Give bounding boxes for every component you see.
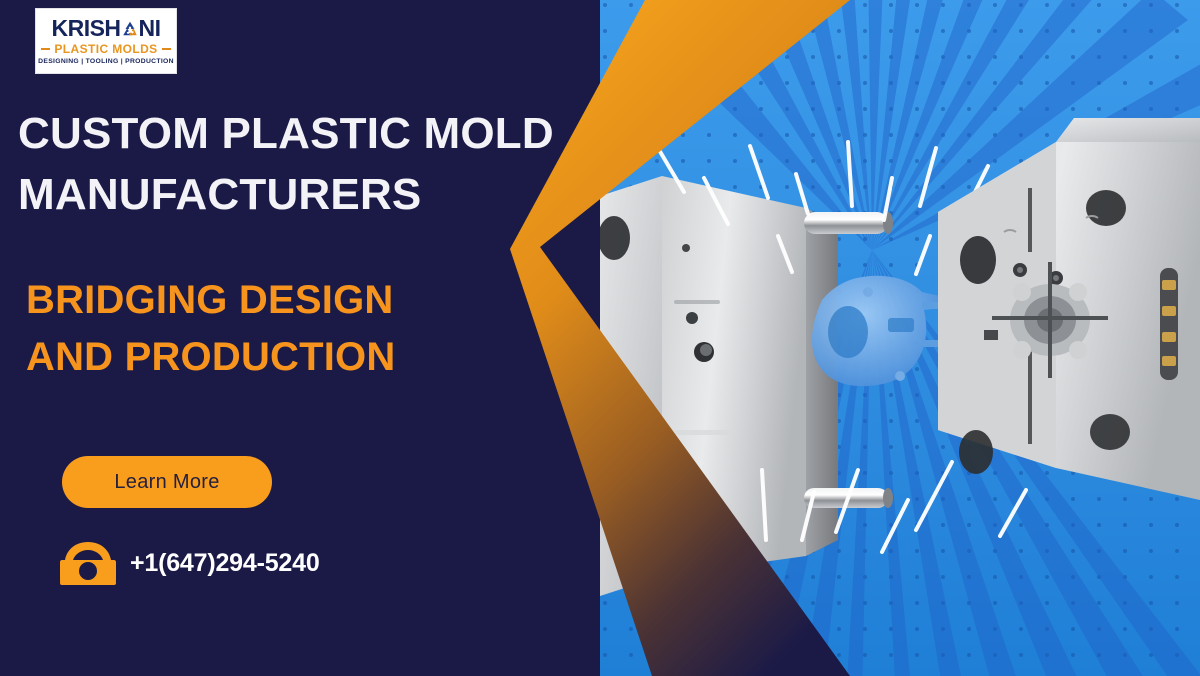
contact-phone-row[interactable]: +1(647)294-5240 <box>60 540 320 586</box>
subheading-line-2: AND PRODUCTION <box>26 329 586 386</box>
telephone-icon <box>60 540 116 586</box>
logo-wordmark: KRISH NI <box>51 17 160 40</box>
logo-tagline: DESIGNING | TOOLING | PRODUCTION <box>38 59 174 66</box>
recycle-triangle-icon <box>121 20 139 39</box>
logo-dash-right <box>162 48 171 50</box>
phone-number: +1(647)294-5240 <box>130 549 320 578</box>
logo-subtitle: PLASTIC MOLDS <box>54 43 157 55</box>
page-title: CUSTOM PLASTIC MOLD MANUFACTURERS <box>18 104 578 225</box>
subheading: BRIDGING DESIGN AND PRODUCTION <box>26 272 586 386</box>
headline-line-1: CUSTOM PLASTIC MOLD <box>18 104 578 165</box>
logo-word-part2: NI <box>139 17 161 40</box>
learn-more-button[interactable]: Learn More <box>62 456 272 508</box>
logo-subtitle-row: PLASTIC MOLDS <box>41 43 170 55</box>
logo-dash-left <box>41 48 50 50</box>
subheading-line-1: BRIDGING DESIGN <box>26 272 586 329</box>
logo-word-part1: KRISH <box>51 17 120 40</box>
hero-banner: KRISH NI PLASTIC MOLDS DESIGNING | TOOLI… <box>0 0 1200 676</box>
ejector-pin-upper <box>804 212 893 234</box>
left-content-pane: KRISH NI PLASTIC MOLDS DESIGNING | TOOLI… <box>0 0 600 676</box>
headline-line-2: MANUFACTURERS <box>18 165 578 226</box>
krishani-plastic-molds-logo[interactable]: KRISH NI PLASTIC MOLDS DESIGNING | TOOLI… <box>35 8 177 74</box>
injection-mold-photo <box>600 0 1200 676</box>
